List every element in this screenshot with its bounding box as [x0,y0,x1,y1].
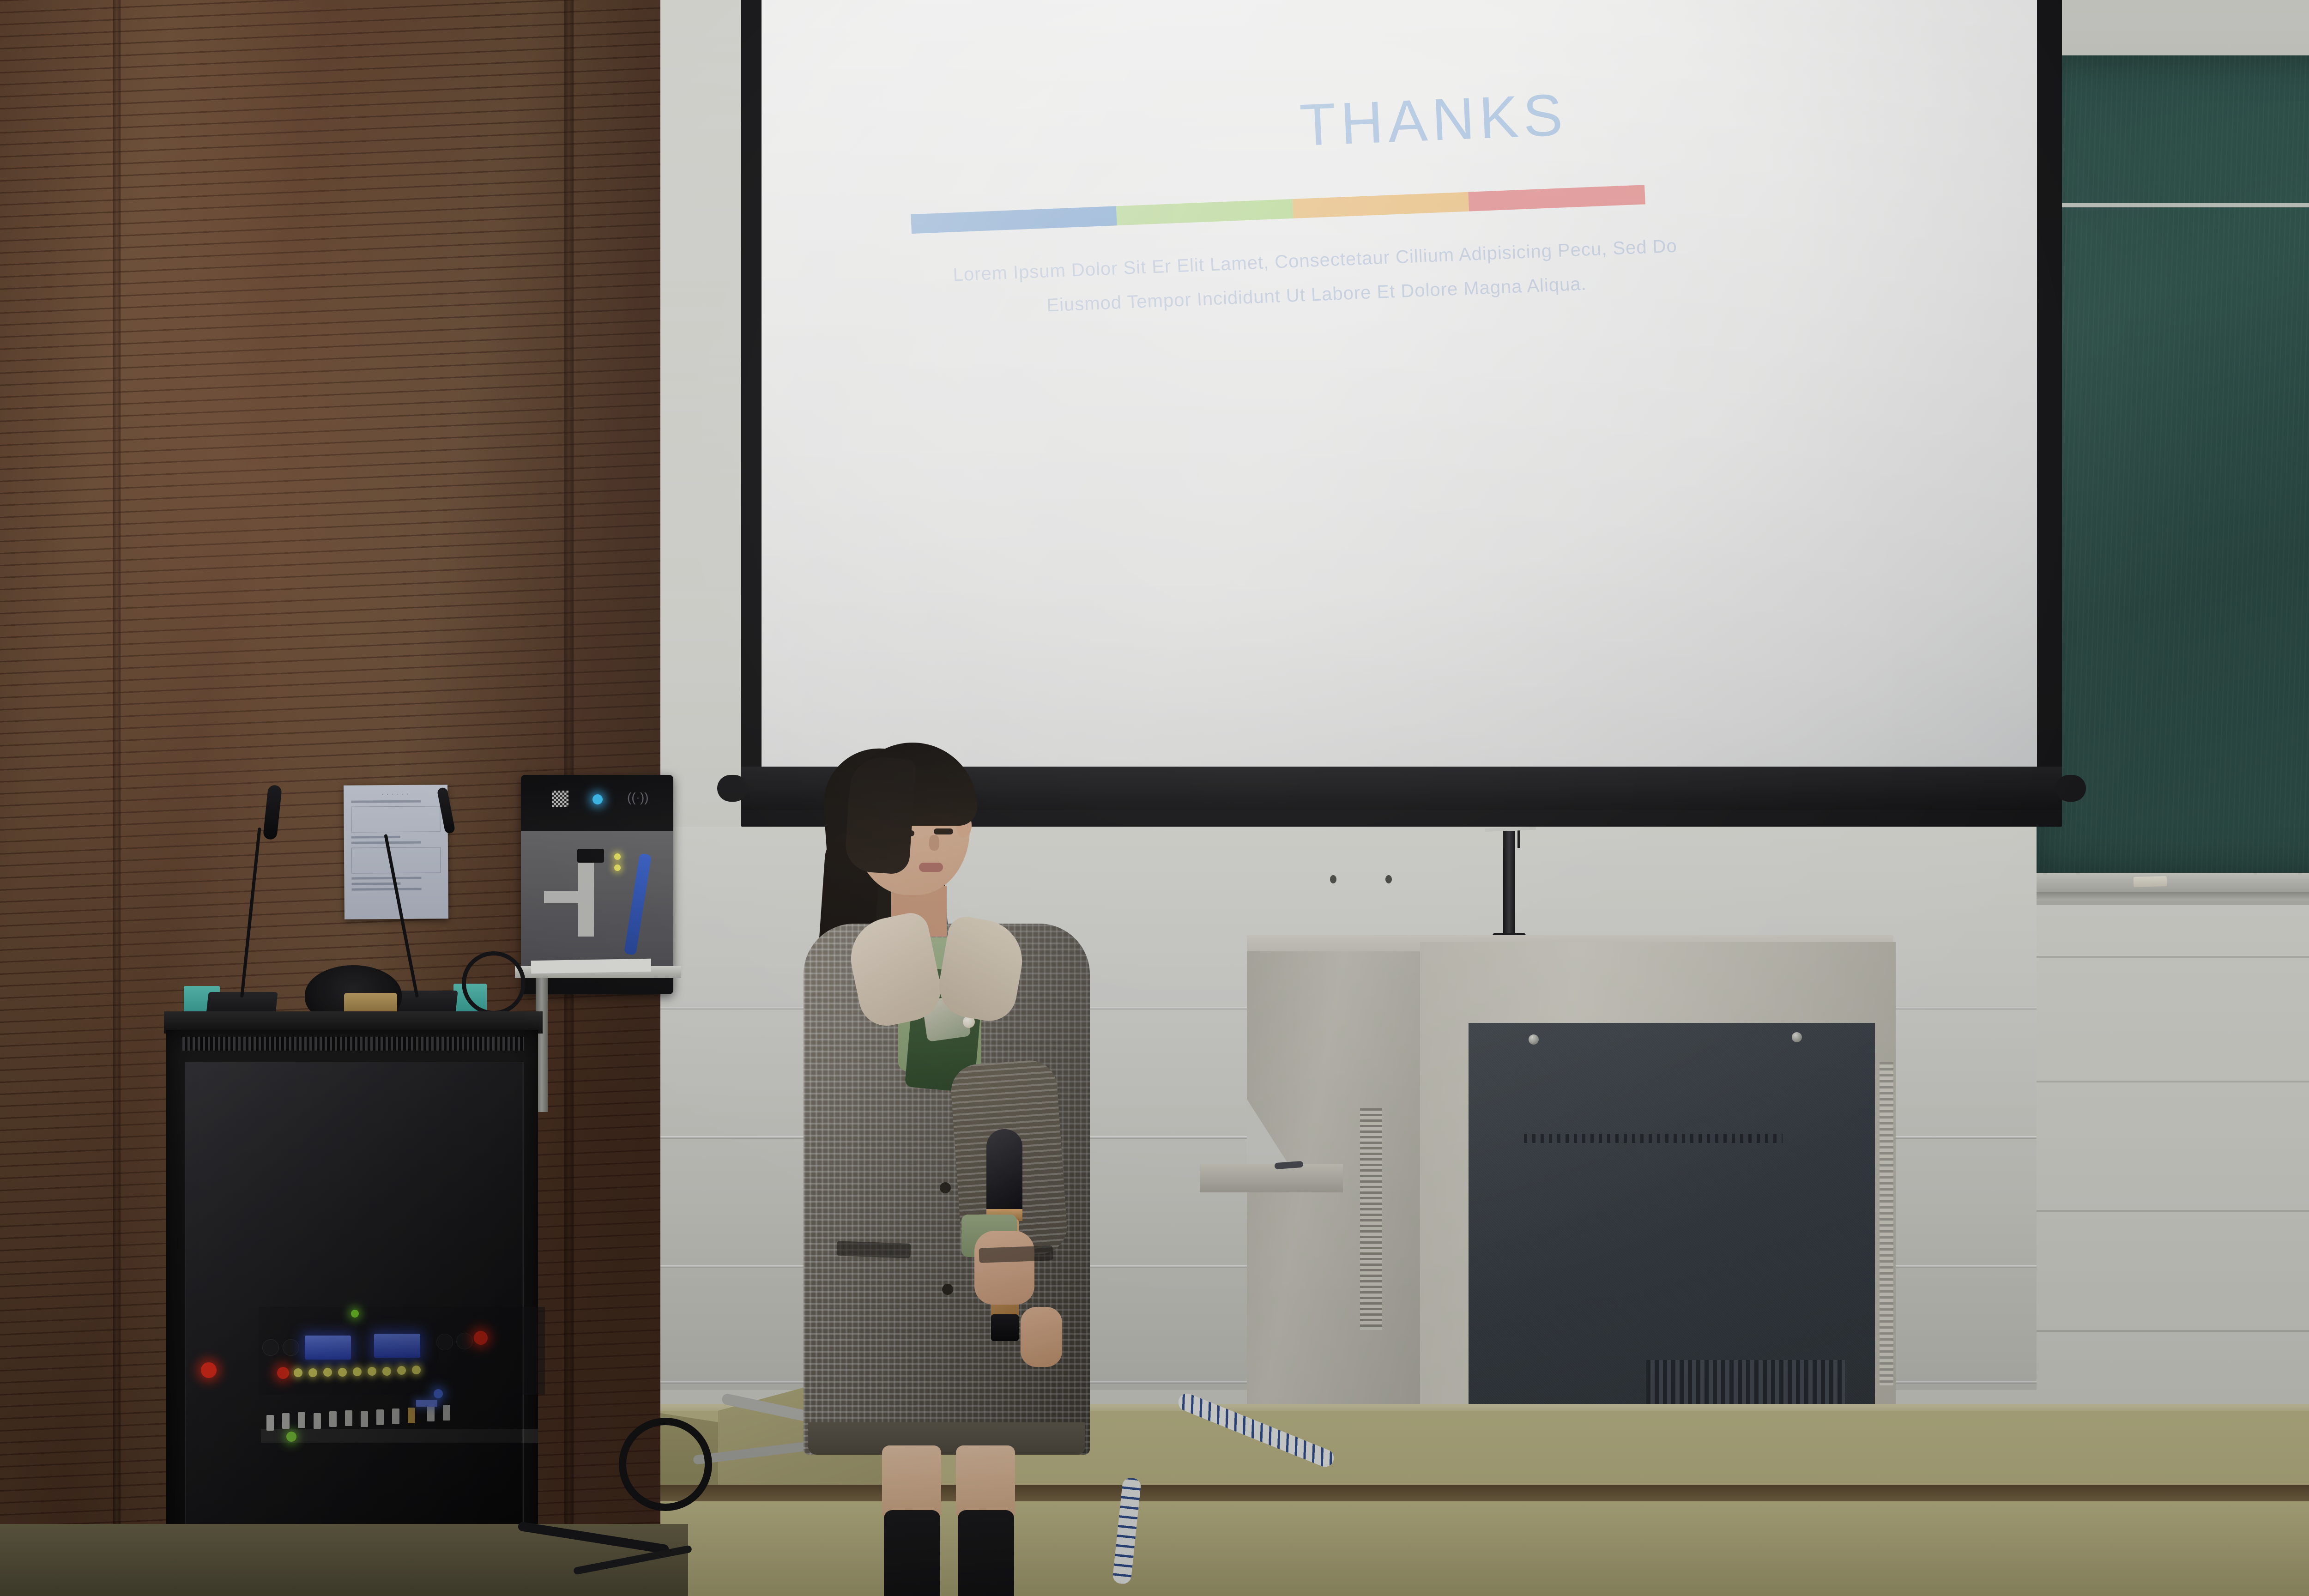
handheld-microphone[interactable] [986,1129,1022,1215]
wall-notice-paper: · · · · · · [344,785,448,919]
chalkboard-texture [2031,55,2309,873]
lectern-keyboard-shelf[interactable] [1200,1164,1343,1192]
hand-right [974,1231,1034,1305]
screen-end-cap-right [2055,775,2086,802]
coiled-cable [619,1418,712,1511]
notice-line [352,888,422,891]
leg-right [956,1445,1015,1519]
panel-bottom-vents [1646,1360,1845,1411]
shelf-paper [531,959,651,974]
chalk-tray-lip [2000,892,2309,901]
coat-button [940,1182,951,1193]
network-module [544,891,579,903]
chalk-piece[interactable] [2134,876,2167,887]
coat-pocket-left [836,1241,911,1258]
screen-glare [762,0,2037,767]
boot-right [958,1510,1014,1596]
notice-line [351,800,421,803]
nose [929,835,939,851]
notice-diagram [351,847,441,873]
lectern-side-vent [1360,1108,1382,1330]
network-status-led [614,853,621,860]
lectern-right-vent [1880,1062,1893,1385]
wall-mount-hole [1330,875,1336,883]
leg-left [882,1445,941,1519]
rack-vent [182,1037,524,1051]
hand-left [1021,1307,1062,1367]
wall-mount-hole [1385,875,1392,883]
notice-line [351,877,421,880]
microphone-end-cap [991,1314,1019,1341]
projection-screen: THANKS Lorem Ipsum Dolor Sit Er Elit Lam… [741,0,2062,827]
lecture-hall-scene: THANKS Lorem Ipsum Dolor Sit Er Elit Lam… [0,0,2309,1596]
coat-pocket-right [979,1245,1053,1263]
wifi-icon: ((·)) [627,791,646,804]
qr-code-icon [552,791,568,807]
rack-glass-reflection [185,1062,522,1552]
network-connector-block [577,849,604,863]
coat-button [942,1284,953,1295]
screen-end-cap-left [717,775,748,802]
panel-ventilation-slots [1524,1134,1783,1143]
panel-screw [1792,1032,1802,1042]
hair-fringe [844,755,916,875]
network-module [578,863,594,937]
network-status-led [614,864,621,871]
panel-screw [1529,1034,1539,1045]
notice-diagram [351,806,440,832]
presenter [804,739,1090,1596]
notice-heading: · · · · · · [351,791,440,797]
microphone-stand-clip [1503,829,1520,848]
boot-left [884,1510,940,1596]
power-led-icon [592,794,603,804]
notice-line [351,836,400,839]
coat-hem [808,1422,1085,1455]
mouth [919,863,943,872]
eye-right [934,828,953,834]
